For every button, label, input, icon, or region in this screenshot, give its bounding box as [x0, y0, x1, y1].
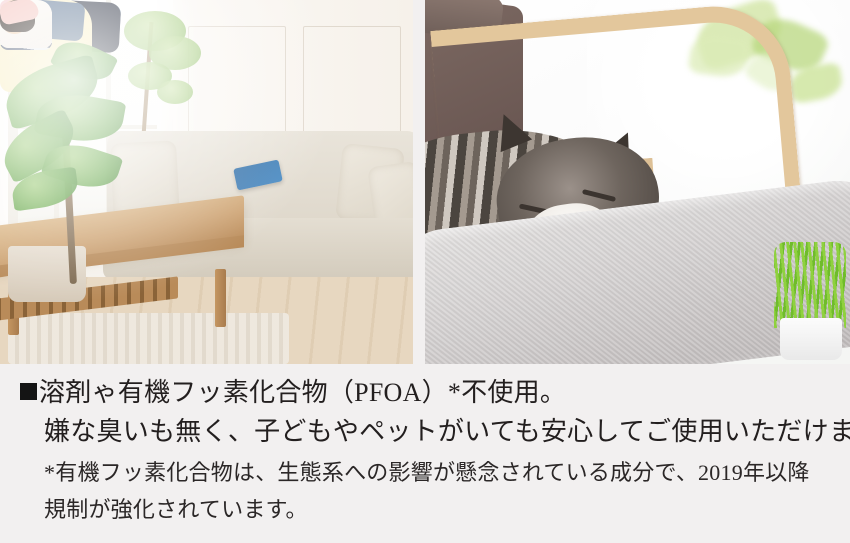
family-on-sofa-photo	[0, 0, 413, 364]
cat-chair-scene	[425, 0, 850, 364]
coffee-table-leg	[215, 269, 226, 327]
caption-block: 溶剤ゃ有機フッ素化合物（PFOA）*不使用。 嫌な臭いも無く、子どもやペットがい…	[0, 364, 850, 543]
promo-panel: 溶剤ゃ有機フッ素化合物（PFOA）*不使用。 嫌な臭いも無く、子どもやペットがい…	[0, 0, 850, 543]
caption-subline: 嫌な臭いも無く、子どもやペットがいても安心してご使用いただけます。	[44, 416, 850, 447]
photo-band	[0, 0, 850, 364]
cat-grass-pot	[780, 318, 842, 360]
cat-grass	[774, 242, 846, 328]
caption-headline: 溶剤ゃ有機フッ素化合物（PFOA）*不使用。	[20, 377, 566, 408]
sleeping-cat-photo	[425, 0, 850, 364]
square-bullet-icon	[20, 383, 37, 400]
caption-headline-text: 溶剤ゃ有機フッ素化合物（PFOA）*不使用。	[39, 378, 566, 407]
caption-footnote-line-1: *有機フッ素化合物は、生態系への影響が懸念されている成分で、2019年以降	[44, 460, 810, 486]
caption-footnote-line-2: 規制が強化されています。	[44, 497, 308, 523]
background-tree-foliage	[157, 80, 193, 104]
living-room-scene	[0, 0, 413, 364]
floor-rug	[8, 313, 289, 364]
photo-gutter	[413, 0, 425, 364]
